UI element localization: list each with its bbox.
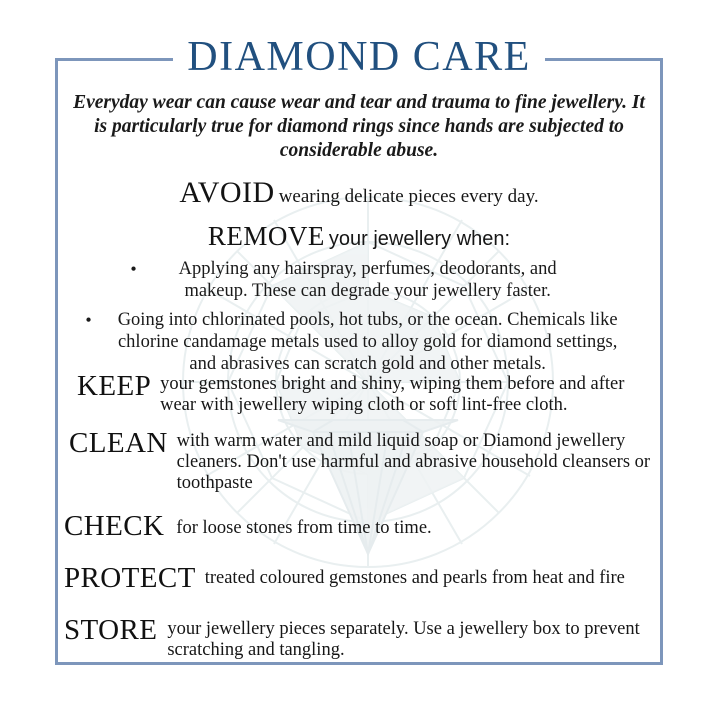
list-item: • Applying any hairspray, perfumes, deod… (73, 258, 645, 302)
care-row-clean: CLEAN with warm water and mild liquid so… (55, 427, 663, 494)
care-row-protect-text: treated coloured gemstones and pearls fr… (196, 562, 663, 589)
bullet-marker-icon: • (85, 309, 91, 331)
care-row-protect-keyword: PROTECT (64, 562, 196, 593)
diamond-care-poster: DIAMOND CARE Everyday wear can cause wea… (0, 0, 720, 720)
care-row-store-text: your jewellery pieces separately. Use a … (157, 614, 663, 661)
poster-content: DIAMOND CARE Everyday wear can cause wea… (55, 58, 663, 665)
care-row-protect: PROTECT treated coloured gemstones and p… (55, 562, 663, 593)
care-row-clean-keyword: CLEAN (69, 427, 168, 458)
care-row-check: CHECK for loose stones from time to time… (55, 510, 663, 541)
page-title-text: DIAMOND CARE (173, 36, 545, 78)
statement-avoid: AVOID wearing delicate pieces every day. (55, 176, 663, 210)
list-item: • Going into chlorinated pools, hot tubs… (73, 309, 645, 375)
bullet-marker-icon: • (130, 258, 136, 280)
intro-paragraph: Everyday wear can cause wear and tear an… (67, 91, 651, 163)
care-instruction-list: KEEP your gemstones bright and shiny, wi… (55, 370, 663, 672)
care-row-check-text: for loose stones from time to time. (164, 510, 663, 539)
care-row-clean-text: with warm water and mild liquid soap or … (168, 427, 663, 494)
care-row-store: STORE your jewellery pieces separately. … (55, 614, 663, 661)
list-item-text: Applying any hairspray, perfumes, deodor… (148, 258, 588, 302)
list-item-text: Going into chlorinated pools, hot tubs, … (103, 309, 633, 375)
care-row-keep-text: your gemstones bright and shiny, wiping … (151, 370, 663, 416)
care-row-store-keyword: STORE (64, 614, 157, 645)
care-row-check-keyword: CHECK (64, 510, 164, 541)
page-title: DIAMOND CARE (55, 36, 663, 78)
statement-remove-text: your jewellery when: (329, 228, 510, 250)
care-row-keep: KEEP your gemstones bright and shiny, wi… (55, 370, 663, 416)
remove-bullet-list: • Applying any hairspray, perfumes, deod… (73, 258, 645, 382)
statement-avoid-text: wearing delicate pieces every day. (279, 186, 539, 207)
care-row-keep-keyword: KEEP (77, 370, 151, 401)
statement-remove-keyword: REMOVE (208, 221, 325, 251)
statement-remove: REMOVE your jewellery when: (55, 221, 663, 252)
statement-avoid-keyword: AVOID (179, 176, 274, 209)
